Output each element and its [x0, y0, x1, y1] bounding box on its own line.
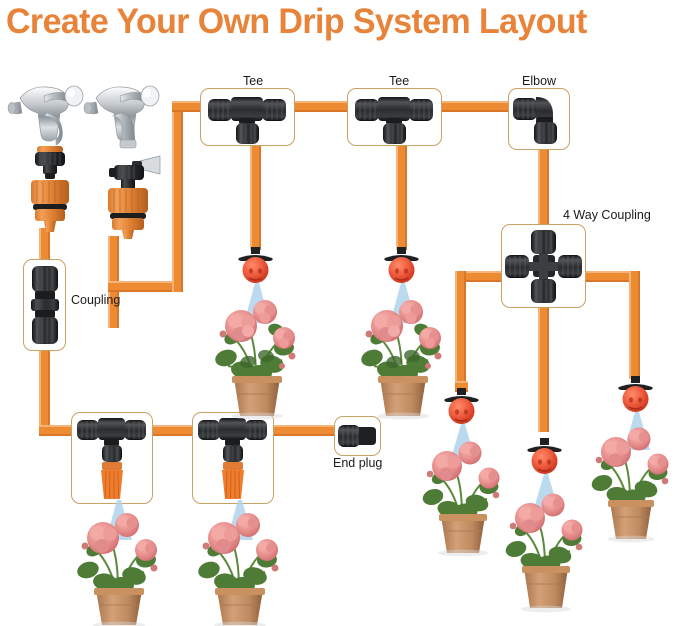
end-plug-label: End plug: [333, 456, 382, 470]
drip-emitter-5: [439, 388, 484, 428]
tee-1: [206, 93, 290, 145]
potted-plant-4: [179, 498, 301, 626]
elbow-label: Elbow: [522, 74, 556, 88]
four-way-coupling-label: 4 Way Coupling: [563, 208, 651, 222]
pipe-fourway-center-drop: [538, 305, 549, 432]
four-way-coupling: [505, 229, 583, 304]
pipe-tap2-horizontal: [108, 281, 178, 292]
drip-emitter-2: [379, 247, 424, 287]
coupling: [28, 264, 62, 346]
pipe-left-vertical-upper: [39, 228, 50, 261]
end-plug: [338, 421, 377, 451]
quick-connector-right-valve: [96, 155, 172, 239]
pipe-left-vertical-lower: [39, 349, 50, 436]
tee-2: [353, 93, 437, 145]
faucet-left: [6, 80, 88, 150]
drip-emitter-1: [233, 247, 278, 287]
tee-bottom-1: [76, 415, 148, 501]
tee-1-label: Tee: [243, 74, 263, 88]
potted-plant-3: [58, 498, 180, 626]
potted-plant-1: [196, 282, 318, 417]
potted-plant-7: [578, 410, 679, 540]
pipe-tee2-drop: [396, 140, 407, 250]
pipe-riser-to-tee1: [172, 101, 183, 292]
diagram-canvas: Create Your Own Drip System Layout: [0, 0, 679, 625]
tee-2-label: Tee: [389, 74, 409, 88]
elbow: [512, 92, 566, 146]
pipe-bottom-run-2: [272, 425, 334, 436]
quick-connector-left: [22, 146, 78, 232]
tee-bottom-2: [197, 415, 269, 501]
pipe-elbow-to-fourway: [538, 150, 549, 235]
pipe-tee1-drop: [250, 140, 261, 250]
pipe-tee2-to-elbow: [440, 101, 510, 112]
pipe-fourway-right-drop: [629, 271, 640, 379]
faucet-right: [82, 80, 170, 160]
coupling-label: Coupling: [71, 293, 120, 307]
page-title: Create Your Own Drip System Layout: [6, 2, 654, 42]
